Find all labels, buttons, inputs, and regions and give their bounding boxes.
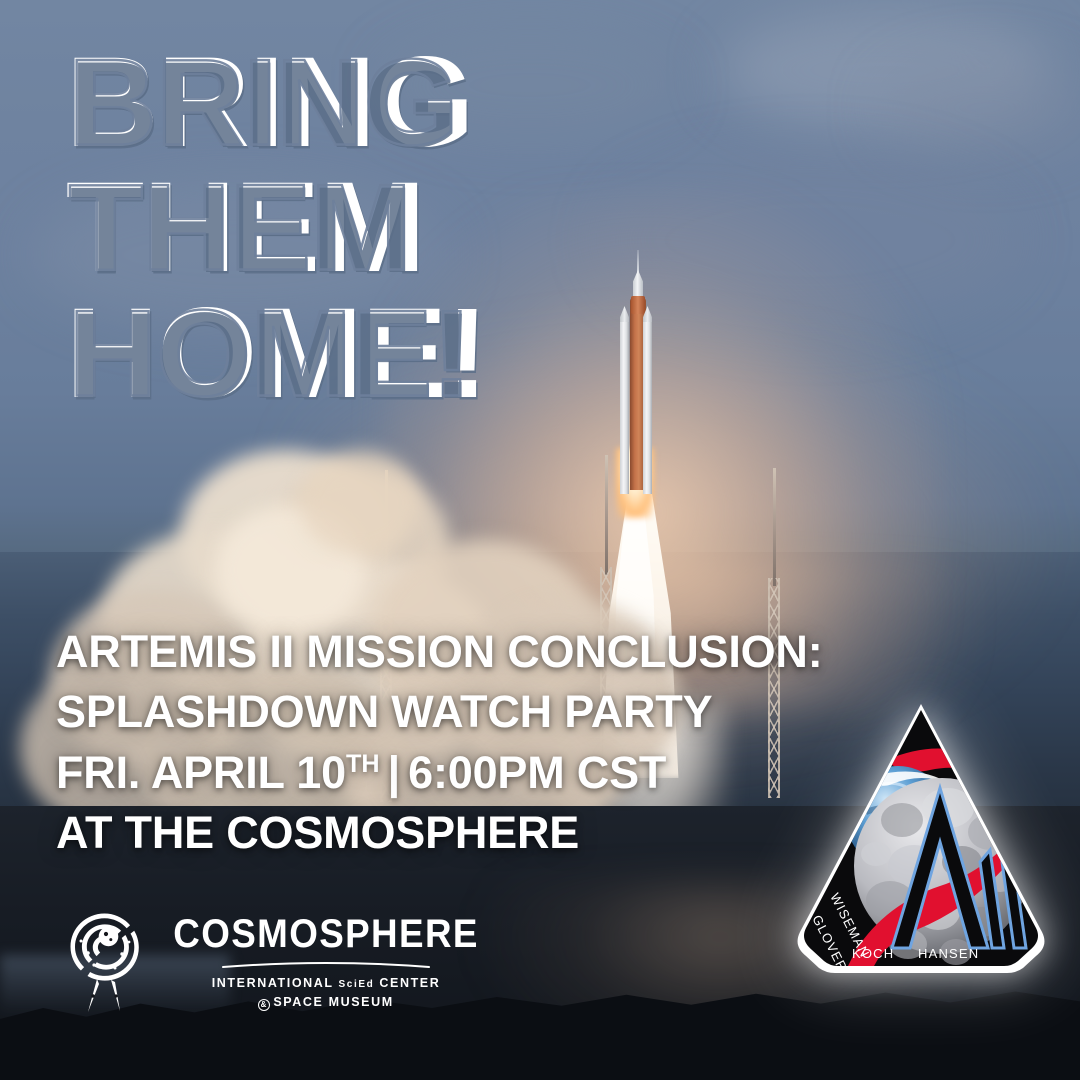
event-details: ARTEMIS II MISSION CONCLUSION: SPLASHDOW… xyxy=(56,622,823,863)
headline-line-2: THEM xyxy=(66,165,488,290)
artemis-ii-mission-patch[interactable]: WISEMAN GLOVER KOCH HANSEN xyxy=(790,700,1052,1000)
event-date: FRI. APRIL 10 xyxy=(56,747,346,798)
cosmosphere-wordmark: COSMOSPHERE xyxy=(173,914,479,954)
tagline-part-c: CENTER xyxy=(374,976,440,990)
headline-line-3: HOME! xyxy=(66,291,488,416)
tagline-part-a: INTERNATIONAL xyxy=(212,976,339,990)
date-ordinal-suffix: TH xyxy=(346,750,380,778)
event-title-line: ARTEMIS II MISSION CONCLUSION: xyxy=(56,622,823,682)
cosmosphere-tagline-line-1: INTERNATIONAL SciEd CENTER xyxy=(212,974,441,993)
cosmosphere-galaxy-icon xyxy=(62,910,148,1014)
poster-canvas: BRING THEM HOME! ARTEMIS II MISSION CONC… xyxy=(0,0,1080,1080)
event-subtitle-line: SPLASHDOWN WATCH PARTY xyxy=(56,682,823,742)
ampersand-badge: & xyxy=(258,999,270,1011)
headline-line-1: BRING xyxy=(66,40,488,165)
event-time: 6:00PM CST xyxy=(408,747,666,798)
crew-name-hansen: HANSEN xyxy=(918,946,979,961)
cosmosphere-logo[interactable]: COSMOSPHERE INTERNATIONAL SciEd CENTER &… xyxy=(62,906,392,1018)
crew-name-koch: KOCH xyxy=(852,946,894,961)
tagline-space-museum: SPACE MUSEUM xyxy=(273,995,393,1009)
tagline-scied: SciEd xyxy=(339,979,375,990)
cosmosphere-tagline-line-2: &SPACE MUSEUM xyxy=(258,993,393,1012)
poster-headline: BRING THEM HOME! xyxy=(66,40,488,416)
event-location-line: AT THE COSMOSPHERE xyxy=(56,803,823,863)
content-layer: BRING THEM HOME! ARTEMIS II MISSION CONC… xyxy=(0,0,1080,1080)
logo-divider xyxy=(221,960,431,969)
cosmosphere-wordmark-block: COSMOSPHERE INTERNATIONAL SciEd CENTER &… xyxy=(160,912,492,1012)
datetime-separator: | xyxy=(380,747,409,798)
event-datetime-line: FRI. APRIL 10TH|6:00PM CST xyxy=(56,743,823,803)
